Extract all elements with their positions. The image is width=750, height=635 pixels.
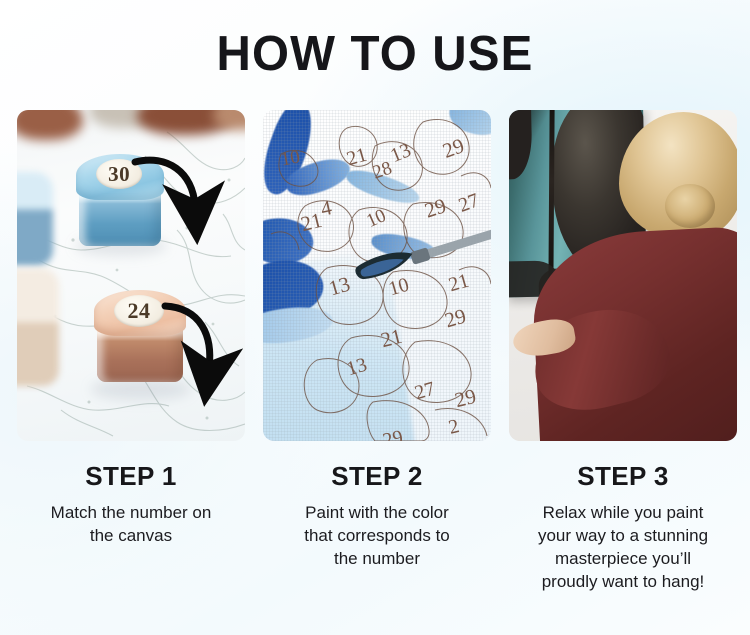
artwork-dark-shape <box>509 110 533 180</box>
step-card-3: STEP 3 Relax while you paint your way to… <box>509 110 737 593</box>
curved-arrow-icon <box>135 160 195 206</box>
painting-by-numbers-canvas-photo: 10 21 13 28 29 4 10 27 29 21 13 29 27 29… <box>263 110 491 441</box>
curved-arrow-icon-group <box>17 110 245 441</box>
step-card-1: 30 24 <box>17 110 245 593</box>
step-caption-2: STEP 2 Paint with the color that corresp… <box>263 461 491 570</box>
step-caption-3: STEP 3 Relax while you paint your way to… <box>509 461 737 593</box>
step-description: Relax while you paint your way to a stun… <box>509 501 737 593</box>
how-to-use-page: HOW TO USE <box>0 0 750 635</box>
paintbrush-icon <box>263 110 491 441</box>
step-title: STEP 2 <box>263 461 491 491</box>
step-card-2: 10 21 13 28 29 4 10 27 29 21 13 29 27 29… <box>263 110 491 593</box>
step-description: Match the number on the canvas <box>17 501 245 547</box>
step-title: STEP 1 <box>17 461 245 491</box>
woman-hanging-finished-painting-photo <box>509 110 737 441</box>
page-title: HOW TO USE <box>11 26 739 82</box>
steps-row: 30 24 <box>17 110 733 593</box>
step-title: STEP 3 <box>509 461 737 491</box>
step-description: Paint with the color that corresponds to… <box>263 501 491 570</box>
step-caption-1: STEP 1 Match the number on the canvas <box>17 461 245 547</box>
woman-hair-bun <box>665 184 715 228</box>
curved-arrow-icon <box>165 306 210 368</box>
paint-pots-on-canvas-photo: 30 24 <box>17 110 245 441</box>
